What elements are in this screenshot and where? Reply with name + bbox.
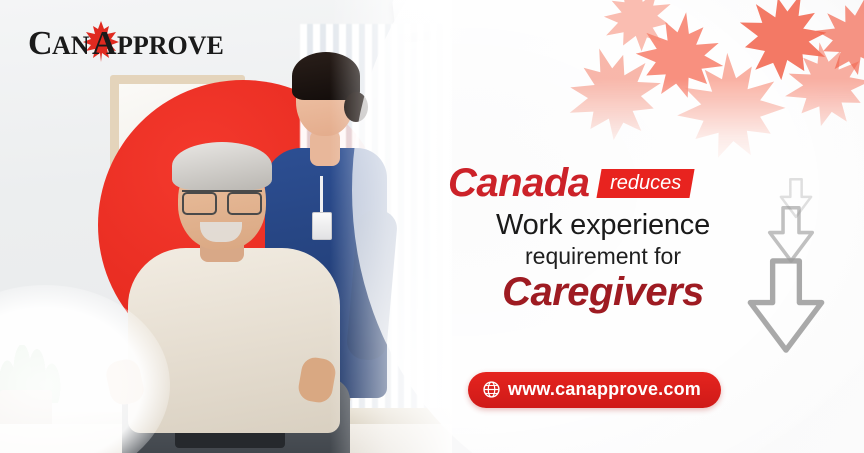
patient-hair xyxy=(172,142,272,190)
globe-icon xyxy=(483,381,500,398)
headline-line-1: Canada reduces xyxy=(448,163,758,203)
reduces-badge: reduces xyxy=(596,169,694,198)
arrow-decoration-group xyxy=(736,178,846,448)
headline-word-canada: Canada xyxy=(448,163,590,203)
svg-text:A: A xyxy=(92,25,117,62)
svg-text:PPROVE: PPROVE xyxy=(117,31,224,60)
brand-logo[interactable]: C AN A PPROVE CANAPPROVE xyxy=(24,18,229,69)
headline-word-caregivers: Caregivers xyxy=(448,271,758,313)
caregiver-lanyard xyxy=(320,176,323,216)
reduces-badge-label: reduces xyxy=(610,173,681,193)
patient-glasses-icon xyxy=(182,190,262,209)
canapprove-logo-svg: C AN A PPROVE xyxy=(24,18,229,64)
svg-text:C: C xyxy=(28,25,53,62)
headline-block: Canada reduces Work experience requireme… xyxy=(448,163,758,313)
website-url-label: www.canapprove.com xyxy=(508,379,701,400)
svg-text:AN: AN xyxy=(52,31,90,60)
headline-line-3: requirement for xyxy=(448,243,758,269)
headline-line-2: Work experience xyxy=(448,209,758,241)
arrow-down-large xyxy=(738,258,834,367)
banner-root: C AN A PPROVE CANAPPROVE xyxy=(0,0,864,453)
caregiver-id-badge xyxy=(312,212,332,240)
content-panel: Canada reduces Work experience requireme… xyxy=(440,0,864,453)
website-cta-button[interactable]: www.canapprove.com xyxy=(468,372,721,408)
